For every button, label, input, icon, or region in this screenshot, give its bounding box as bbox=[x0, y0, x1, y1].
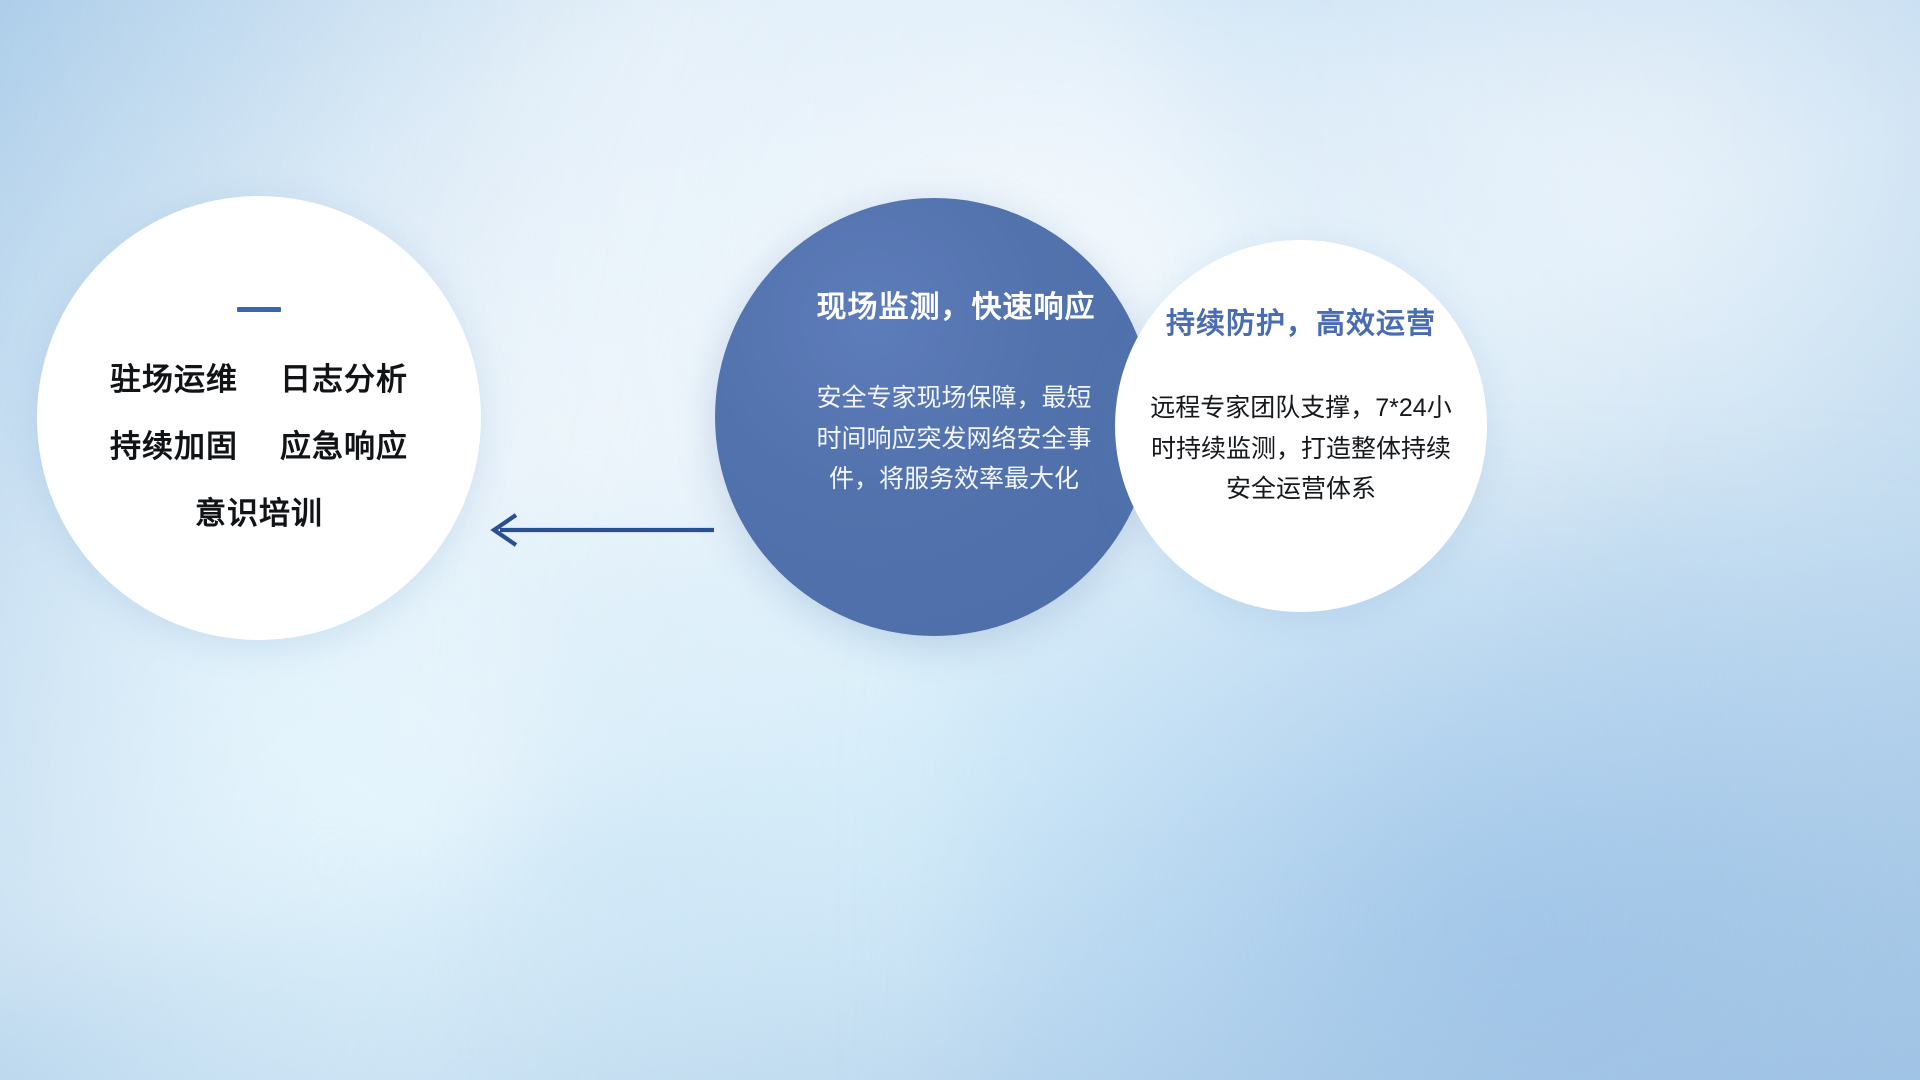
left-capability-circle[interactable]: 驻场运维 日志分析 持续加固 应急响应 意识培训 bbox=[37, 196, 481, 640]
right-continuous-protection-circle[interactable]: 持续防护，高效运营 远程专家团队支撑，7*24小时持续监测，打造整体持续安全运营… bbox=[1115, 240, 1487, 612]
capability-item-log-analysis: 日志分析 bbox=[280, 364, 408, 395]
title-divider-dash bbox=[237, 307, 281, 312]
capability-item-onsite-ops: 驻场运维 bbox=[110, 364, 238, 395]
capability-row: 驻场运维 日志分析 bbox=[110, 364, 408, 395]
left-arrow-icon bbox=[486, 508, 716, 552]
capability-row: 意识培训 bbox=[195, 498, 323, 529]
capability-item-awareness-training: 意识培训 bbox=[195, 498, 323, 529]
capability-list: 驻场运维 日志分析 持续加固 应急响应 意识培训 bbox=[110, 364, 408, 529]
capability-row: 持续加固 应急响应 bbox=[110, 431, 408, 462]
right-circle-title: 持续防护，高效运营 bbox=[1166, 300, 1436, 342]
capability-item-emergency-response: 应急响应 bbox=[280, 431, 408, 462]
right-circle-body: 远程专家团队支撑，7*24小时持续监测，打造整体持续安全运营体系 bbox=[1146, 388, 1456, 510]
middle-onsite-monitoring-circle[interactable]: 现场监测，快速响应 安全专家现场保障，最短时间响应突发网络安全事件，将服务效率最… bbox=[715, 198, 1153, 636]
connector-arrow bbox=[486, 508, 716, 552]
capability-item-continuous-hardening: 持续加固 bbox=[110, 431, 238, 462]
middle-circle-title: 现场监测，快速响应 bbox=[817, 282, 1096, 326]
middle-circle-content: 现场监测，快速响应 安全专家现场保障，最短时间响应突发网络安全事件，将服务效率最… bbox=[715, 198, 1153, 636]
middle-circle-body: 安全专家现场保障，最短时间响应突发网络安全事件，将服务效率最大化 bbox=[814, 378, 1094, 500]
